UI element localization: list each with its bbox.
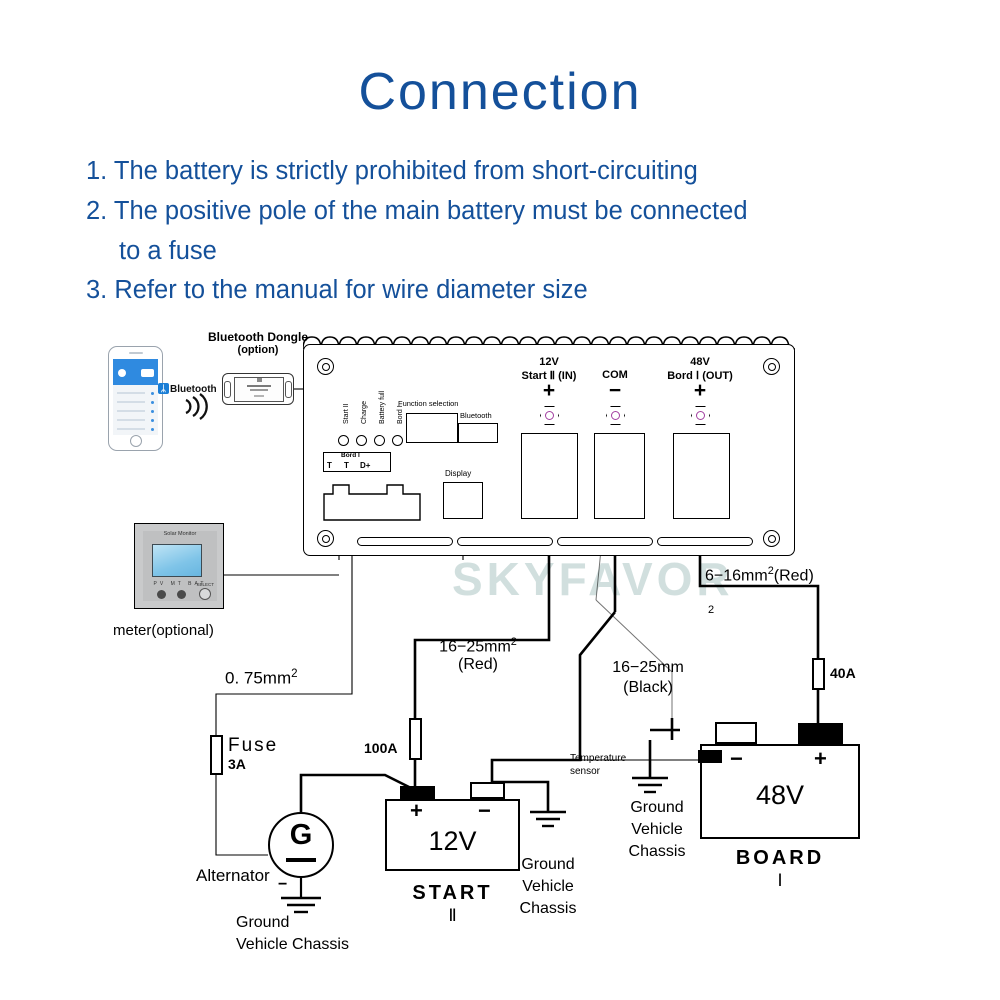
dongle-text-line-2	[250, 389, 268, 391]
phone-screen[interactable]	[113, 359, 158, 435]
led-label-bord-i: Bord I	[397, 405, 404, 424]
terminal-3-lug	[673, 433, 730, 519]
bluetooth-glyph: ᛦ	[158, 382, 169, 394]
controller-vent-slot	[657, 537, 753, 546]
terminal-2-lug	[594, 433, 645, 519]
led-charge	[356, 435, 367, 446]
screw-top-left	[317, 358, 334, 375]
bluetooth-port-label: Bluetooth	[460, 411, 492, 420]
led-label-start-ii: Start II	[343, 403, 350, 424]
battery-48v-positive-terminal	[798, 723, 843, 744]
terminal-3-voltage: 48V	[690, 356, 710, 368]
alternator-minus-sign: −	[278, 876, 287, 894]
meter-select-knob[interactable]	[199, 588, 211, 600]
bluetooth-icon: ᛦ	[158, 383, 169, 394]
bluetooth-dongle[interactable]	[222, 373, 294, 405]
function-selection-switch[interactable]	[406, 413, 458, 443]
fuse-100a-label: 100A	[364, 740, 397, 756]
fuse-3a-body	[210, 735, 223, 775]
dongle-title: Bluetooth Dongle	[208, 330, 308, 344]
wire-label-16-25-red-color: (Red)	[458, 656, 498, 674]
app-row-indicator	[151, 419, 154, 422]
app-status-dot	[118, 369, 126, 377]
battery-48v-minus-sign: −	[730, 748, 743, 770]
terminal-1-lug	[521, 433, 578, 519]
screw-bottom-right	[763, 530, 780, 547]
battery-48v-sensor-tab	[698, 750, 722, 763]
app-battery-pill	[141, 369, 154, 377]
app-list-row	[117, 410, 145, 412]
wire-label-16-25-black-color: (Black)	[623, 679, 673, 697]
ground-label-3-line1: Ground	[614, 799, 700, 817]
terminal-1-voltage: 12V	[539, 356, 559, 368]
pin-t1: T	[327, 461, 332, 470]
function-selection-label: Function selection	[398, 399, 458, 408]
fuse-3a-rating: 3A	[228, 756, 246, 772]
fuse-3a-label: Fuse	[228, 735, 278, 757]
alternator-caption: Alternator	[196, 866, 270, 886]
meter-knob-label: SELECT	[196, 582, 214, 587]
alternator-letter: G	[270, 821, 332, 850]
dongle-connector	[257, 378, 262, 382]
bluetooth-port[interactable]	[458, 423, 498, 443]
pin-t2: T	[344, 461, 349, 470]
terminal-3-sign: +	[694, 379, 706, 403]
screw-top-right	[763, 358, 780, 375]
battery-48v-plus-sign: +	[814, 748, 827, 770]
dongle-mount-left	[224, 381, 231, 398]
meter-button-up[interactable]	[157, 590, 166, 599]
led-start-ii	[338, 435, 349, 446]
battery-12v-name: START	[385, 882, 520, 905]
ground-label-1-line2: Vehicle Chassis	[236, 936, 349, 954]
app-list-row	[117, 419, 145, 421]
ground-label-2-line2: Vehicle	[508, 878, 588, 896]
display-port-label: Display	[445, 469, 471, 478]
temperature-sensor-line2: sensor	[570, 766, 600, 777]
wire-label-6-16-red: 6−16mm2(Red)	[705, 565, 814, 585]
app-list-row	[117, 392, 145, 394]
temperature-sensor-line1: Temperature	[570, 753, 626, 764]
led-label-charge: Charge	[361, 401, 368, 424]
battery-48v-negative-terminal	[715, 722, 757, 744]
led-battery-full	[374, 435, 385, 446]
phone-speaker	[129, 352, 143, 354]
app-row-indicator	[151, 401, 154, 404]
pin-dplus: D+	[360, 461, 370, 470]
screw-bottom-left	[317, 530, 334, 547]
dongle-subtitle: (option)	[238, 344, 279, 356]
ground-label-3-line3: Chassis	[614, 843, 700, 861]
battery-12v-plus-sign: +	[410, 800, 423, 822]
meter-button-down[interactable]	[177, 590, 186, 599]
bluetooth-label: Bluetooth	[170, 384, 217, 395]
display-port[interactable]	[443, 482, 483, 519]
app-row-indicator	[151, 392, 154, 395]
led-label-battery-full: Battery full	[379, 391, 386, 424]
bord-i-strip-title: Bord I	[341, 452, 360, 459]
fuse-100a-body	[409, 718, 422, 760]
battery-12v-negative-terminal	[470, 782, 505, 799]
battery-12v-minus-sign: −	[478, 800, 491, 822]
ground-label-3-line2: Vehicle	[614, 821, 700, 839]
smartphone[interactable]	[108, 346, 163, 451]
meter-screen-title: Solar Monitor	[135, 531, 225, 537]
app-row-indicator	[151, 428, 154, 431]
solar-meter-display[interactable]: Solar Monitor PV MT BAT SELECT	[134, 523, 224, 609]
dongle-text-line-3	[254, 395, 264, 397]
meter-lcd-screen	[152, 544, 202, 577]
dongle-text-line-1	[247, 385, 271, 387]
fuse-40a-label: 40A	[830, 665, 856, 681]
app-header-bar	[113, 359, 158, 385]
app-list-row	[117, 428, 145, 430]
alternator-bar	[286, 858, 316, 862]
controller-vent-slot	[357, 537, 453, 546]
led-bord-i	[392, 435, 403, 446]
terminal-1-sign: +	[543, 379, 555, 403]
ground-label-2-line3: Chassis	[508, 900, 588, 918]
battery-12v-voltage: 12V	[385, 826, 520, 857]
wire-label-16-25-black: 16−25mm	[612, 659, 684, 677]
ground-label-2-line1: Ground	[508, 856, 588, 874]
fuse-40a-body	[812, 658, 825, 690]
meter-caption: meter(optional)	[113, 622, 214, 639]
controller-connector-housing	[323, 482, 421, 522]
battery-48v-name: BOARD	[700, 847, 860, 870]
wire-label-0-75mm: 0. 75mm2	[225, 668, 298, 689]
app-row-indicator	[151, 410, 154, 413]
wire-label-stray-exponent: 2	[708, 604, 714, 616]
controller-vent-slot	[557, 537, 653, 546]
battery-48v-voltage: 48V	[700, 780, 860, 811]
phone-home-button[interactable]	[130, 435, 142, 447]
alternator-symbol: G	[268, 812, 334, 878]
wire-label-16-25-red: 16−25mm2	[439, 636, 517, 656]
battery-12v-roman: Ⅱ	[385, 906, 520, 926]
app-list-row	[117, 401, 145, 403]
dongle-mount-right	[285, 381, 292, 398]
controller-vent-slot	[457, 537, 553, 546]
ground-label-1-line1: Ground	[236, 914, 289, 932]
battery-48v-roman: Ⅰ	[700, 871, 860, 891]
terminal-2-sign: −	[609, 379, 621, 403]
